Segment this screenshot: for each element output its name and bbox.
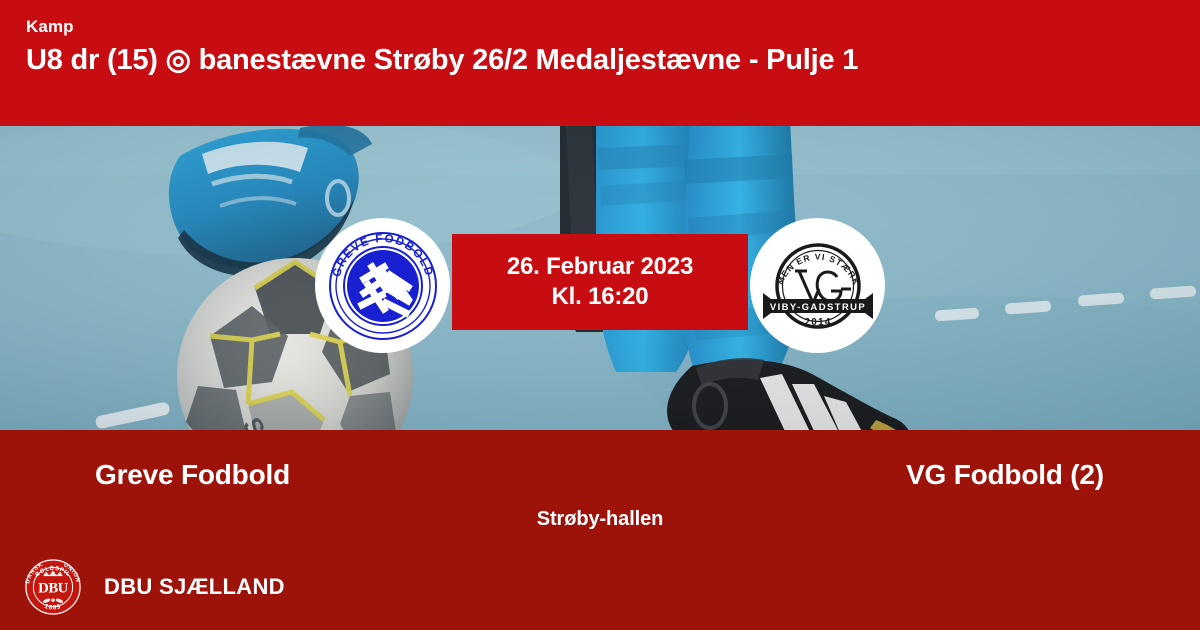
venue-name: Strøby-hallen (0, 508, 1200, 531)
match-date: 26. Februar 2023 (507, 252, 693, 282)
svg-text:DBU: DBU (38, 580, 68, 596)
svg-text:2014: 2014 (804, 317, 831, 328)
viby-gadstrup-crest-icon: SAMMEN ER VI STÆRKERE VIBY-GADSTRUP 2014 (759, 227, 877, 345)
poster-header: Kamp U8 dr (15) ◎ banestævne Strøby 26/2… (0, 0, 1200, 126)
match-time: Kl. 16:20 (552, 282, 649, 312)
dbu-logo-icon: DANSK BOLDSPIL UNION 1889 (24, 558, 82, 616)
svg-text:VIBY-GADSTRUP: VIBY-GADSTRUP (769, 302, 865, 313)
match-title: U8 dr (15) ◎ banestævne Strøby 26/2 Meda… (26, 44, 1174, 77)
organisation-name: DBU SJÆLLAND (104, 574, 285, 600)
match-poster: Kamp U8 dr (15) ◎ banestævne Strøby 26/2… (0, 0, 1200, 630)
team-names-row: Greve Fodbold VG Fodbold (2) (0, 458, 1200, 492)
home-team-crest-badge: GREVE FODBOLD 1935 (315, 218, 450, 353)
poster-footer-bar: Greve Fodbold VG Fodbold (2) Strøby-hall… (0, 430, 1200, 630)
home-team-name: Greve Fodbold (0, 458, 600, 492)
greve-fodbold-crest-icon: GREVE FODBOLD 1935 (324, 227, 442, 345)
away-team-crest-badge: SAMMEN ER VI STÆRKERE VIBY-GADSTRUP 2014 (750, 218, 885, 353)
away-team-name: VG Fodbold (2) (600, 458, 1200, 492)
match-date-banner: 26. Februar 2023 Kl. 16:20 (452, 234, 748, 330)
match-kicker-label: Kamp (26, 18, 1174, 37)
organisation-footer: DANSK BOLDSPIL UNION 1889 (24, 558, 285, 616)
